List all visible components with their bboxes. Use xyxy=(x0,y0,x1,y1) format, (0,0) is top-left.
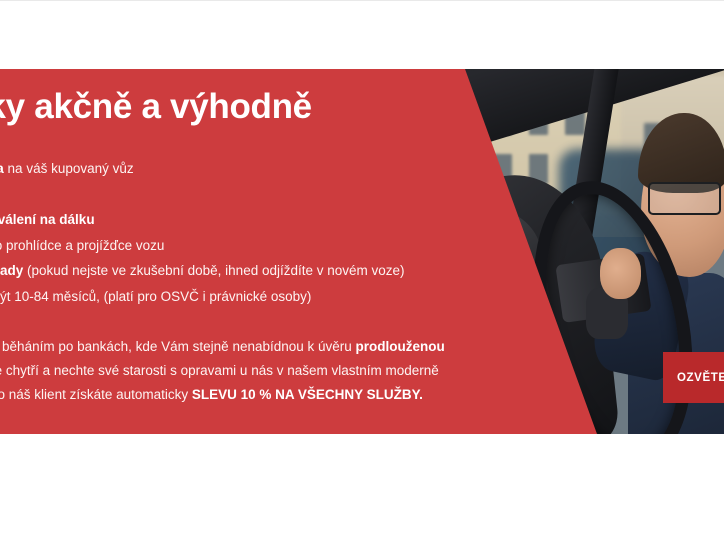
benefit-list: ená záruka na váš kupovaný vůz od 0 % é … xyxy=(0,156,554,309)
benefit-item: ená záruka na váš kupovaný vůz xyxy=(0,156,554,182)
paragraph-text: vozu! Buďte chytří a nechte své starosti… xyxy=(0,363,439,378)
paragraph-line: ocenný čas běháním po bankách, kde Vám s… xyxy=(0,335,570,359)
page-top-hairline xyxy=(0,0,724,1)
paragraph-bold: SLEVU 10 % NA VŠECHNY SLUŽBY. xyxy=(192,387,423,402)
contact-cta-button[interactable]: OZVĚTE xyxy=(663,352,724,403)
paragraph-bold: prodlouženou xyxy=(356,339,445,354)
benefit-item: od 0 % xyxy=(0,182,554,208)
benefit-item-bold: é předschválení na dálku xyxy=(0,212,95,227)
benefit-item: tek může být 10-84 měsíců, (platí pro OS… xyxy=(0,284,554,310)
benefit-item-rest: (pokud nejste ve zkušební době, ihned od… xyxy=(23,263,404,278)
banner-page: átky akčně a výhodně ená záruka na váš k… xyxy=(0,0,724,560)
paragraph-text: ocenný čas běháním po bankách, kde Vám s… xyxy=(0,339,356,354)
driver-hand xyxy=(600,248,641,299)
paragraph-line: vozu! Buďte chytří a nechte své starosti… xyxy=(0,359,570,383)
benefit-item-rest: na váš kupovaný vůz xyxy=(4,161,134,176)
promo-banner: átky akčně a výhodně ená záruka na váš k… xyxy=(0,69,724,434)
paragraph-text: isu, kde jako náš klient získáte automat… xyxy=(0,387,192,402)
driver-glasses-icon xyxy=(648,182,721,215)
benefit-item-rest: tek může být 10-84 měsíců, (platí pro OS… xyxy=(0,289,311,304)
benefit-item-rest: louvy až po prohlídce a projížďce vozu xyxy=(0,238,164,253)
benefit-item: é předschválení na dálku xyxy=(0,207,554,233)
banner-headline: átky akčně a výhodně xyxy=(0,89,312,124)
benefit-item-bold: e dva doklady xyxy=(0,263,23,278)
banner-paragraph: ocenný čas běháním po bankách, kde Vám s… xyxy=(0,335,570,407)
contact-cta-label: OZVĚTE xyxy=(677,372,724,384)
benefit-item: e dva doklady (pokud nejste ve zkušební … xyxy=(0,258,554,284)
benefit-item: louvy až po prohlídce a projížďce vozu xyxy=(0,233,554,259)
banner-copy: átky akčně a výhodně ená záruka na váš k… xyxy=(0,69,560,434)
paragraph-line: isu, kde jako náš klient získáte automat… xyxy=(0,383,570,407)
